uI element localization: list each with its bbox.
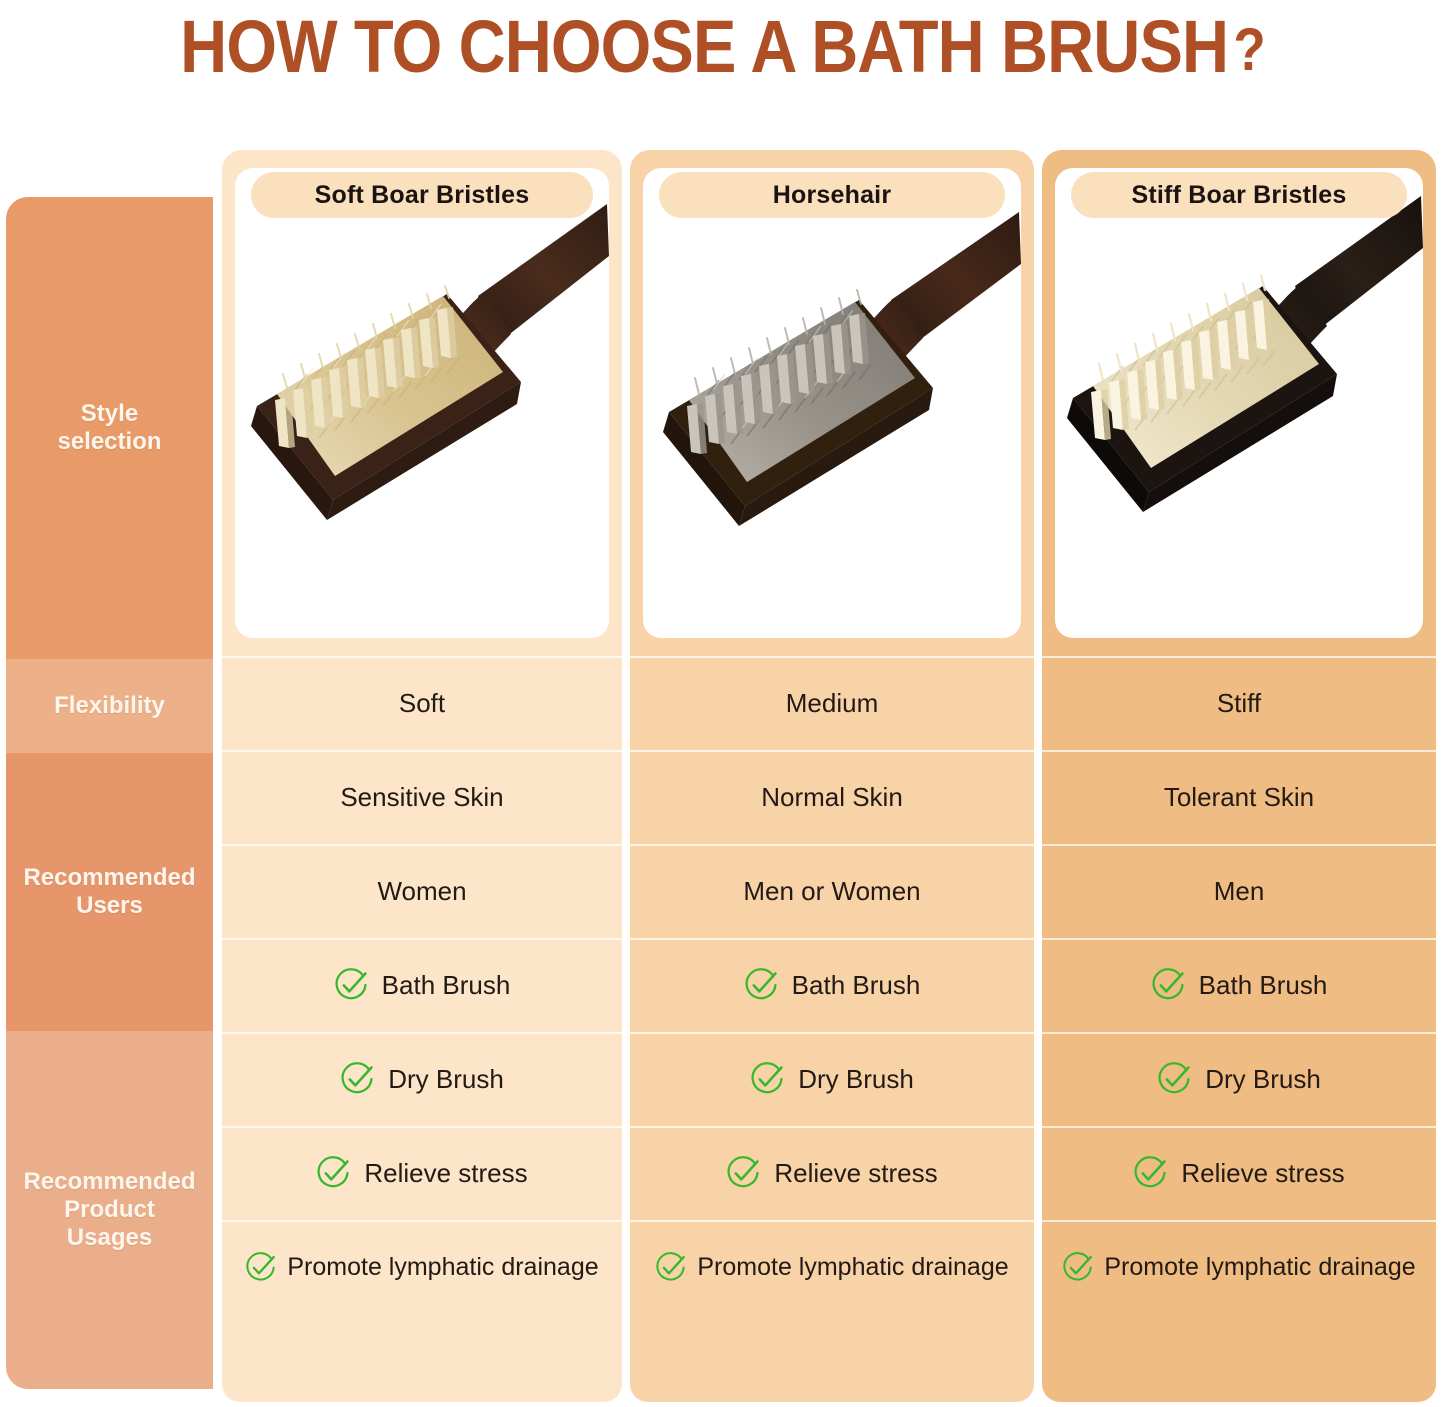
brush-illustration-soft-boar (235, 168, 609, 638)
usage-label: Bath Brush (382, 970, 511, 1001)
brush-svg (643, 168, 1021, 638)
row-label-recommended-users: Recommended Users (6, 753, 213, 1031)
cell-usage-bath-brush-horsehair: Bath Brush (630, 938, 1034, 1032)
usage-label: Relieve stress (774, 1158, 937, 1189)
cell-flexibility-stiff-boar: Stiff (1042, 656, 1436, 750)
cell-flexibility-soft-boar: Soft (222, 656, 622, 750)
check-circle-icon (750, 1062, 784, 1096)
cell-usage-lymphatic-drainage-soft-boar: Promote lymphatic drainage (222, 1220, 622, 1314)
page-title: HOW TO CHOOSE A BATH BRUSH? (87, 4, 1359, 89)
check-circle-icon (726, 1156, 760, 1190)
row-label-column: Style selection Flexibility Recommended … (6, 197, 213, 1389)
usage-label: Promote lymphatic drainage (287, 1253, 598, 1282)
product-image-stiff-boar (1055, 168, 1423, 638)
product-image-horsehair (643, 168, 1021, 638)
check-circle-icon (655, 1252, 686, 1283)
cell-usage-relieve-stress-soft-boar: Relieve stress (222, 1126, 622, 1220)
cell-skin-type-horsehair: Normal Skin (630, 750, 1034, 844)
check-circle-icon (1157, 1062, 1191, 1096)
check-circle-icon (1151, 968, 1185, 1002)
usage-label: Promote lymphatic drainage (697, 1253, 1008, 1282)
page-title-text: HOW TO CHOOSE A BATH BRUSH (180, 5, 1228, 88)
cell-usage-dry-brush-stiff-boar: Dry Brush (1042, 1032, 1436, 1126)
check-circle-icon (1133, 1156, 1167, 1190)
product-image-soft-boar (235, 168, 609, 638)
row-label-style-selection: Style selection (6, 197, 213, 659)
cell-usage-bath-brush-stiff-boar: Bath Brush (1042, 938, 1436, 1032)
cell-usage-lymphatic-drainage-horsehair: Promote lymphatic drainage (630, 1220, 1034, 1314)
check-circle-icon (340, 1062, 374, 1096)
row-label-users-line2: Users (23, 892, 195, 920)
infographic-page: HOW TO CHOOSE A BATH BRUSH? Style select… (0, 0, 1445, 1407)
usage-label: Bath Brush (1199, 970, 1328, 1001)
brush-svg (1055, 168, 1423, 638)
cell-usage-lymphatic-drainage-stiff-boar: Promote lymphatic drainage (1042, 1220, 1436, 1314)
usage-label: Bath Brush (792, 970, 921, 1001)
cell-usage-relieve-stress-horsehair: Relieve stress (630, 1126, 1034, 1220)
usage-label: Dry Brush (1205, 1064, 1321, 1095)
comparison-grid: Soft Boar Bristles Horsehair Stiff Boar … (213, 150, 1445, 1402)
cell-flexibility-horsehair: Medium (630, 656, 1034, 750)
cell-usage-bath-brush-soft-boar: Bath Brush (222, 938, 622, 1032)
usage-label: Dry Brush (798, 1064, 914, 1095)
column-header-stiff-boar: Stiff Boar Bristles (1071, 172, 1407, 218)
row-label-usages-line3: Usages (23, 1224, 195, 1252)
brush-svg (235, 168, 609, 638)
row-label-usages-line2: Product (23, 1196, 195, 1224)
row-label-style-line1: Style (57, 400, 161, 428)
cell-usage-dry-brush-horsehair: Dry Brush (630, 1032, 1034, 1126)
comparison-table: Style selection Flexibility Recommended … (0, 150, 1445, 1402)
row-label-usages-line1: Recommended (23, 1168, 195, 1196)
usage-label: Relieve stress (364, 1158, 527, 1189)
usage-label: Dry Brush (388, 1064, 504, 1095)
cell-skin-type-soft-boar: Sensitive Skin (222, 750, 622, 844)
cell-usage-relieve-stress-stiff-boar: Relieve stress (1042, 1126, 1436, 1220)
column-header-horsehair: Horsehair (659, 172, 1005, 218)
cell-usage-dry-brush-soft-boar: Dry Brush (222, 1032, 622, 1126)
row-label-recommended-product-usages: Recommended Product Usages (6, 1031, 213, 1389)
usage-label: Relieve stress (1181, 1158, 1344, 1189)
check-circle-icon (316, 1156, 350, 1190)
cell-gender-stiff-boar: Men (1042, 844, 1436, 938)
check-circle-icon (334, 968, 368, 1002)
row-label-users-line1: Recommended (23, 864, 195, 892)
usage-label: Promote lymphatic drainage (1104, 1253, 1415, 1282)
check-circle-icon (245, 1252, 276, 1283)
cell-skin-type-stiff-boar: Tolerant Skin (1042, 750, 1436, 844)
cell-gender-horsehair: Men or Women (630, 844, 1034, 938)
question-mark: ? (1233, 16, 1264, 83)
brush-illustration-stiff-boar (1055, 168, 1423, 638)
cell-gender-soft-boar: Women (222, 844, 622, 938)
column-header-soft-boar: Soft Boar Bristles (251, 172, 593, 218)
row-label-style-line2: selection (57, 428, 161, 456)
row-label-flexibility: Flexibility (6, 659, 213, 753)
brush-illustration-horsehair (643, 168, 1021, 638)
check-circle-icon (744, 968, 778, 1002)
check-circle-icon (1062, 1252, 1093, 1283)
